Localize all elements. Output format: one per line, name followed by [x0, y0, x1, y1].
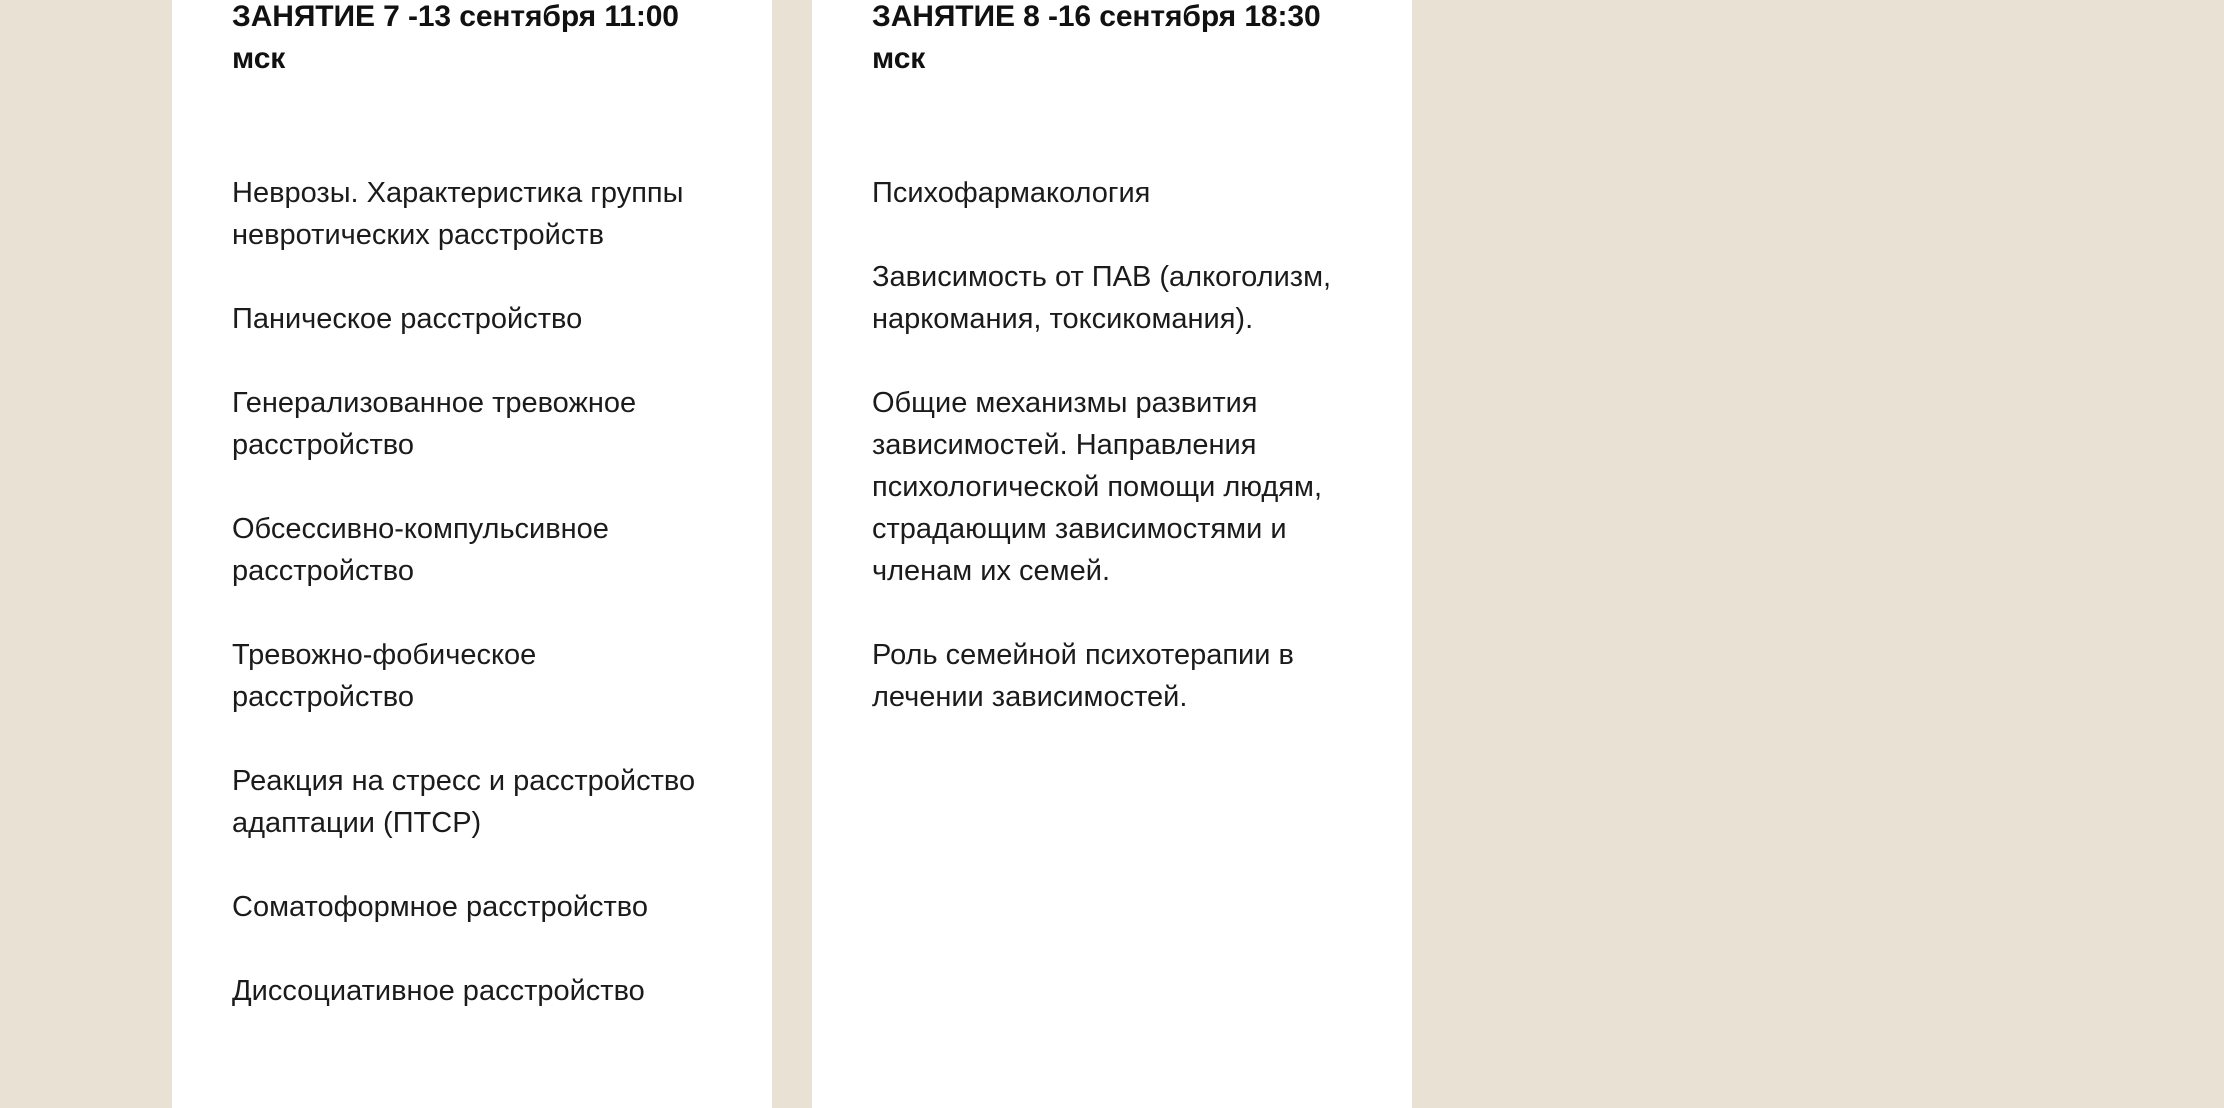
- topic-item: Диссоциативное расстройство: [232, 970, 712, 1012]
- topic-item: Реакция на стресс и расстройство адаптац…: [232, 760, 712, 844]
- topic-item: Генерализованное тревожное расстройство: [232, 382, 712, 466]
- topic-item: Зависимость от ПАВ (алкоголизм, наркоман…: [872, 256, 1352, 340]
- topic-item: Неврозы. Характеристика группы невротиче…: [232, 172, 712, 256]
- session-cards-strip: ЗАНЯТИЕ 7 -13 сентября 11:00 мск Неврозы…: [172, 0, 1412, 1108]
- session-card-8: ЗАНЯТИЕ 8 -16 сентября 18:30 мск Психофа…: [812, 0, 1412, 1108]
- session-heading-7: ЗАНЯТИЕ 7 -13 сентября 11:00 мск: [232, 0, 712, 80]
- topic-item: Соматоформное расстройство: [232, 886, 712, 928]
- topic-item: Обсессивно-компульсивное расстройство: [232, 508, 712, 592]
- session-topics-7: Неврозы. Характеристика группы невротиче…: [232, 172, 712, 1012]
- topic-item: Тревожно-фобическое расстройство: [232, 634, 712, 718]
- session-topics-8: Психофармакология Зависимость от ПАВ (ал…: [872, 172, 1352, 718]
- topic-item: Роль семейной психотерапии в лечении зав…: [872, 634, 1352, 718]
- session-heading-8: ЗАНЯТИЕ 8 -16 сентября 18:30 мск: [872, 0, 1352, 80]
- topic-item: Психофармакология: [872, 172, 1352, 214]
- topic-item: Паническое расстройство: [232, 298, 712, 340]
- topic-item: Общие механизмы развития зависимостей. Н…: [872, 382, 1352, 592]
- session-card-7: ЗАНЯТИЕ 7 -13 сентября 11:00 мск Неврозы…: [172, 0, 772, 1108]
- schedule-page: ЗАНЯТИЕ 7 -13 сентября 11:00 мск Неврозы…: [0, 0, 2224, 1108]
